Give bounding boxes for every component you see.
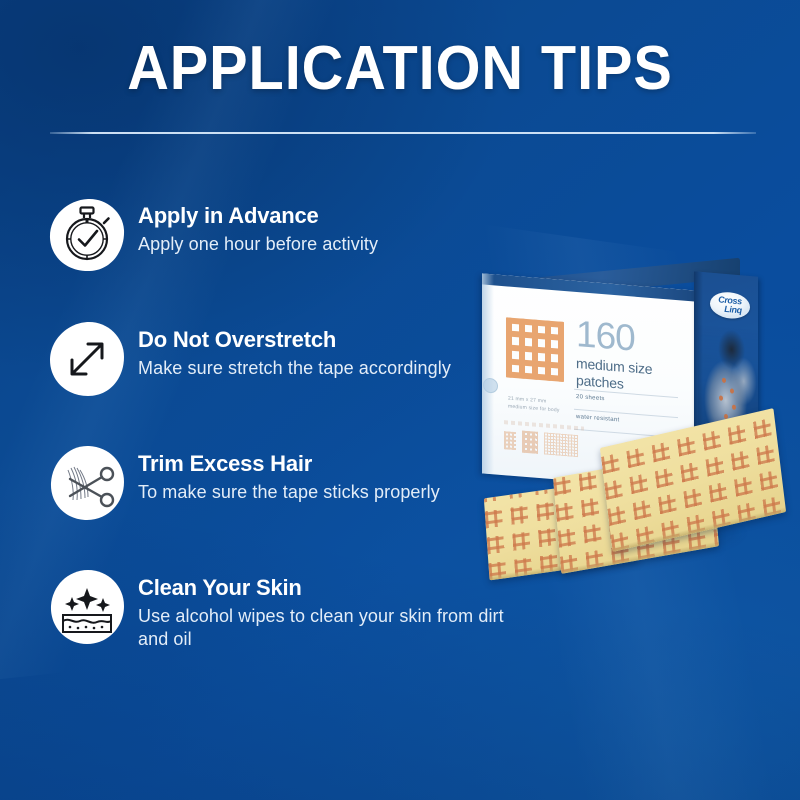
- tip-text: Clean Your Skin Use alcohol wipes to cle…: [138, 568, 518, 651]
- tip-text: Trim Excess Hair To make sure the tape s…: [138, 444, 440, 504]
- tape-sheets: [470, 438, 800, 568]
- tip-item: Trim Excess Hair To make sure the tape s…: [48, 444, 518, 522]
- product-photo: 160 medium size patches 21 mm x 27 mm me…: [470, 262, 800, 592]
- tips-list: Apply in Advance Apply one hour before a…: [48, 196, 518, 697]
- application-tips-infographic: APPLICATION TIPS: [0, 0, 800, 800]
- clean-skin-sparkle-icon: [48, 568, 126, 646]
- tip-heading: Apply in Advance: [138, 204, 378, 229]
- diagonal-double-arrow-icon: [48, 320, 126, 398]
- box-dimensions: 21 mm x 27 mm medium size for body: [508, 395, 574, 415]
- box-water-resistant-label: water resistant: [576, 414, 620, 424]
- scissors-hair-icon: [48, 444, 126, 522]
- tip-heading: Clean Your Skin: [138, 576, 518, 601]
- tip-text: Apply in Advance Apply one hour before a…: [138, 196, 378, 256]
- box-count: 160: [576, 315, 635, 357]
- brand-logo: Cross Linq: [710, 291, 750, 320]
- stopwatch-icon: [48, 196, 126, 274]
- page-title: APPLICATION TIPS: [28, 36, 772, 101]
- tip-heading: Trim Excess Hair: [138, 452, 440, 477]
- box-emblem-icon: [483, 377, 498, 393]
- brand-logo-line-2: Linq: [724, 305, 741, 315]
- tip-text: Do Not Overstretch Make sure stretch the…: [138, 320, 451, 380]
- patch-grid-illustration: [506, 317, 564, 382]
- tip-description: Apply one hour before activity: [138, 233, 378, 256]
- tip-item: Clean Your Skin Use alcohol wipes to cle…: [48, 568, 518, 651]
- title-divider: [50, 132, 756, 134]
- tip-description: Make sure stretch the tape accordingly: [138, 357, 451, 380]
- box-size-label: medium size patches: [576, 355, 652, 394]
- box-sheets-label: 20 sheets: [576, 394, 605, 402]
- tip-heading: Do Not Overstretch: [138, 328, 451, 353]
- tip-description: To make sure the tape sticks properly: [138, 481, 440, 504]
- tip-item: Apply in Advance Apply one hour before a…: [48, 196, 518, 274]
- tip-description: Use alcohol wipes to clean your skin fro…: [138, 605, 518, 652]
- tip-item: Do Not Overstretch Make sure stretch the…: [48, 320, 518, 398]
